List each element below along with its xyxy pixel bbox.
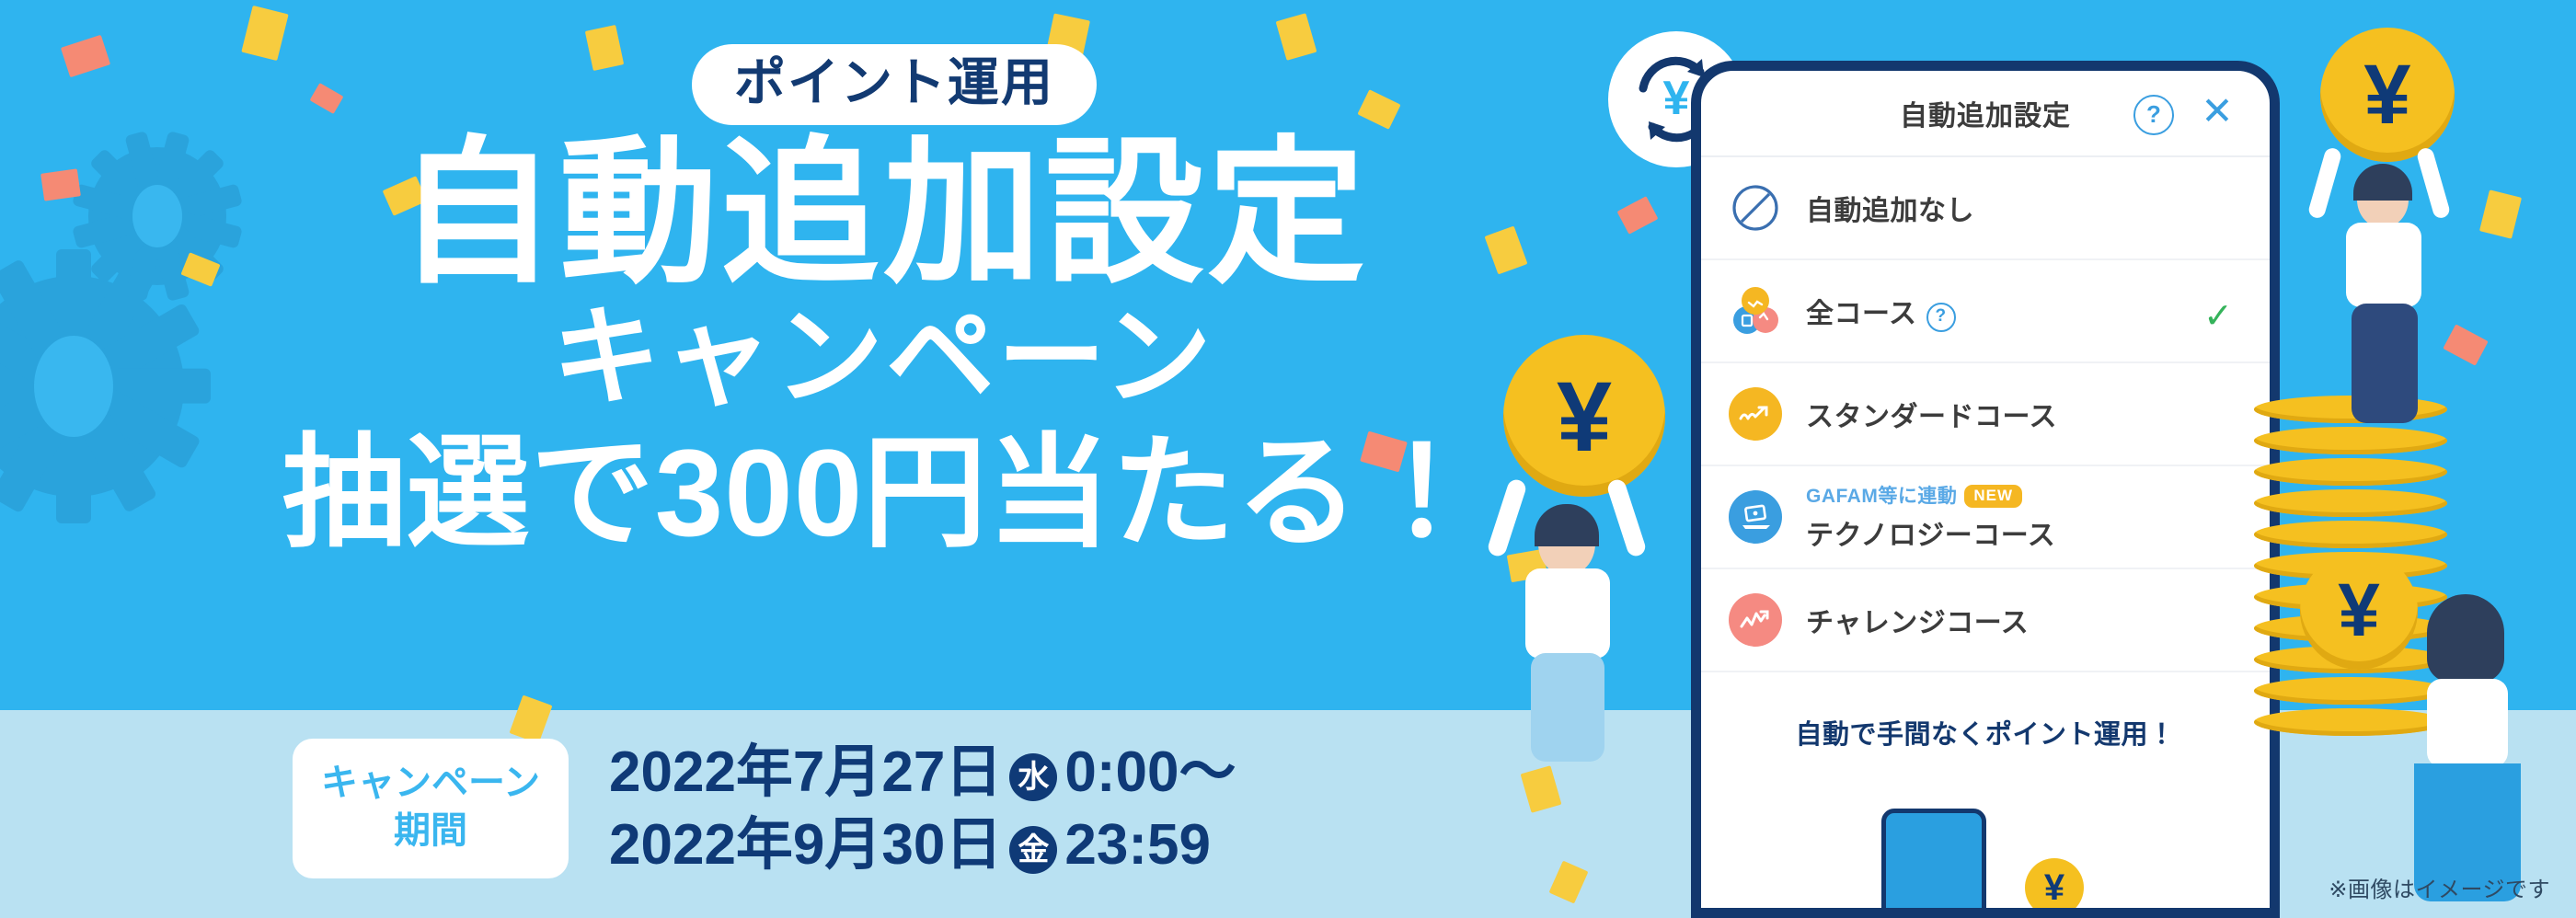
yen-coin-mid-right: ¥ (2300, 552, 2418, 670)
category-pill: ポイント運用 (692, 44, 1097, 125)
person-torso (2346, 223, 2421, 307)
yen-coin-top-right: ¥ (2320, 28, 2455, 162)
challenge-course-icon (1729, 593, 1782, 647)
person-torso (1525, 568, 1610, 659)
phone-header: 自動追加設定 ? ✕ (1701, 71, 2270, 157)
close-icon[interactable]: ✕ (2198, 93, 2237, 132)
period-start-suffix: 〜 (1179, 740, 1236, 804)
campaign-banner: ポイント運用 自動追加設定 キャンペーン 抽選で300円当たる！ キャンペーン … (0, 0, 2576, 918)
svg-text:¥: ¥ (1663, 72, 1690, 125)
period-end-time: 23:59 (1064, 813, 1211, 877)
phone-title: 自動追加設定 (1900, 93, 2071, 133)
list-item-label: 全コース? (1806, 291, 1956, 332)
yen-coin-hero: ¥ (1503, 335, 1665, 497)
new-badge: NEW (1964, 485, 2022, 508)
list-item-standard-course[interactable]: スタンダードコース (1701, 363, 2270, 466)
technology-course-icon (1729, 490, 1782, 544)
sublabel-text: GAFAM等に連動 (1806, 486, 1957, 507)
period-start-row: 2022年7月27日水0:00〜 (609, 736, 1236, 809)
period-start-date: 2022年7月27日 (609, 740, 1002, 804)
list-item-label: 自動追加なし (1806, 188, 1974, 228)
list-item-label: チャレンジコース (1806, 600, 2029, 640)
list-item-no-auto-add[interactable]: 自動追加なし (1701, 157, 2270, 260)
list-item-label: スタンダードコース (1806, 394, 2057, 434)
list-item-challenge-course[interactable]: チャレンジコース (1701, 569, 2270, 672)
period-start-dow: 水 (1009, 753, 1057, 801)
list-item-sublabel: GAFAM等に連動NEW (1806, 481, 2055, 509)
standard-course-icon (1729, 387, 1782, 441)
prohibition-icon (1729, 181, 1782, 235)
period-tag-line1: キャンペーン (293, 759, 569, 807)
campaign-period: キャンペーン 期間 2022年7月27日水0:00〜 2022年9月30日金23… (293, 736, 1236, 882)
all-courses-icon (1729, 284, 1782, 338)
headline-primary: 自動追加設定 (138, 136, 1628, 292)
help-icon[interactable]: ? (2133, 95, 2174, 135)
list-item-all-courses[interactable]: 全コース? ✓ (1701, 260, 2270, 363)
headline-prize: 抽選で300円当たる！ (138, 432, 1628, 556)
period-tag-line2: 期間 (293, 807, 569, 855)
hero-copy: ポイント運用 自動追加設定 キャンペーン 抽選で300円当たる！ (0, 0, 1619, 710)
person-legs (1531, 653, 1604, 762)
mini-coin: ¥ (2025, 858, 2084, 917)
mini-phone-illustration (1881, 809, 1986, 918)
person-legs (2352, 304, 2418, 423)
selected-check-icon: ✓ (2203, 295, 2233, 337)
period-end-date: 2022年9月30日 (609, 813, 1002, 877)
period-start-time: 0:00 (1064, 740, 1179, 804)
list-item-text: テクノロジーコース (1806, 521, 2055, 551)
list-item-technology-course[interactable]: GAFAM等に連動NEW テクノロジーコース (1701, 466, 2270, 569)
list-item-text: 全コース (1806, 299, 1917, 329)
headline-secondary: キャンペーン (138, 304, 1628, 412)
person-torso (2427, 679, 2508, 767)
inline-help-icon[interactable]: ? (1926, 303, 1956, 332)
phone-mockup: 自動追加設定 ? ✕ 自動追加なし (1691, 61, 2280, 918)
period-end-dow: 金 (1009, 826, 1057, 874)
period-end-row: 2022年9月30日金23:59 (609, 809, 1236, 881)
period-tag: キャンペーン 期間 (293, 739, 569, 878)
phone-footer-text: 自動で手間なくポイント運用！ (1701, 672, 2270, 752)
disclaimer-text: ※画像はイメージです (2329, 871, 2550, 903)
period-dates: 2022年7月27日水0:00〜 2022年9月30日金23:59 (609, 736, 1236, 882)
list-item-label: GAFAM等に連動NEW テクノロジーコース (1806, 481, 2055, 553)
person-hair (2427, 594, 2504, 683)
